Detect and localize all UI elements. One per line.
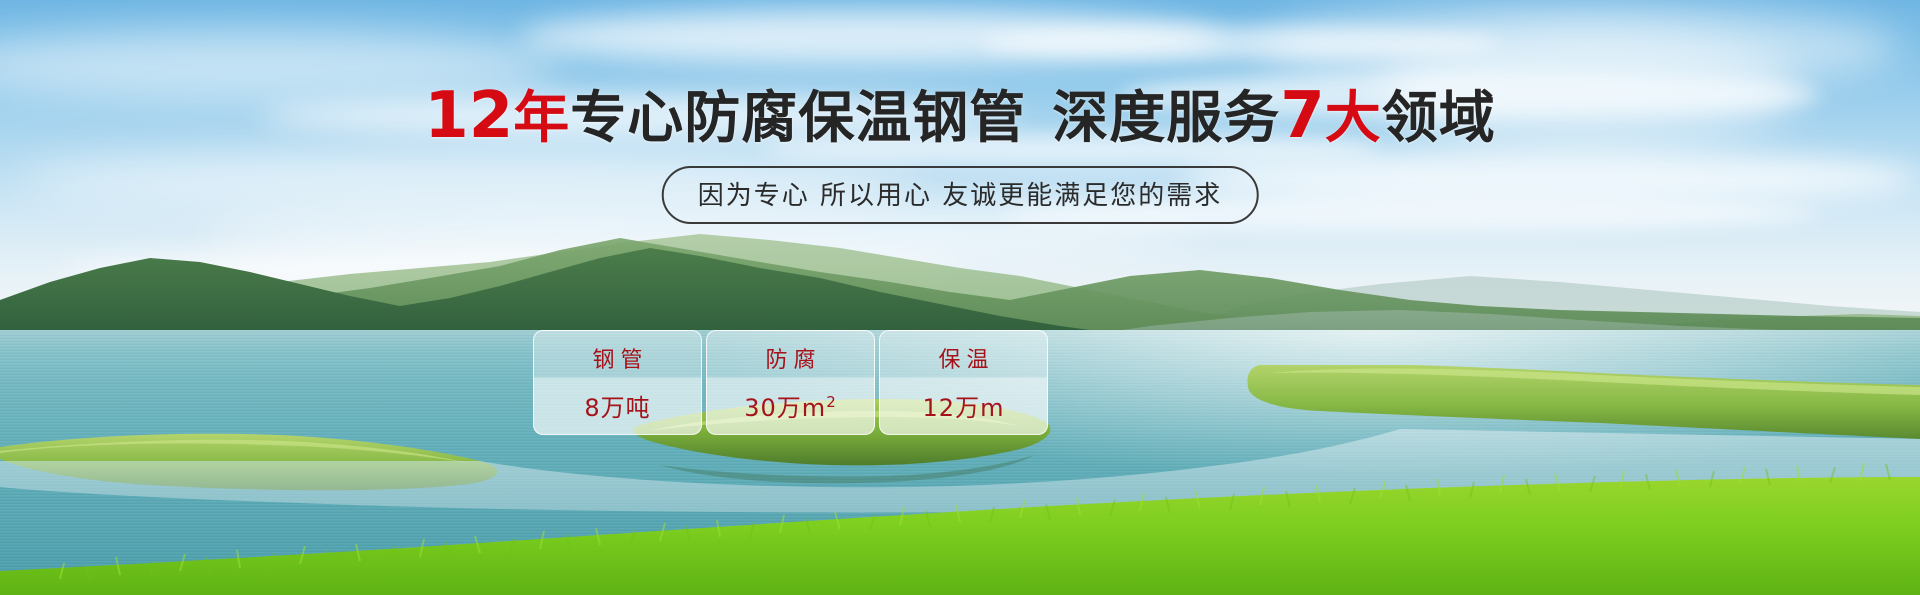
headline-fields-unit: 大	[1325, 86, 1382, 151]
stat-card-value-base: 30万m	[744, 394, 826, 422]
headline-service-text: 深度服务	[1052, 86, 1280, 151]
banner-headline: 12年专心防腐保温钢管深度服务7大领域	[0, 84, 1920, 148]
banner-subtitle-pill: 因为专心 所以用心 友诚更能满足您的需求	[662, 166, 1259, 224]
stat-card-title: 保温	[932, 342, 994, 374]
stat-card-title: 防腐	[759, 342, 821, 374]
headline-years-number: 12	[424, 79, 513, 153]
stat-card-insulation[interactable]: 保温 12万m	[879, 330, 1048, 435]
headline-years-unit: 年	[513, 86, 570, 151]
stat-card-value-base: 8万吨	[584, 394, 650, 422]
hero-banner: 12年专心防腐保温钢管深度服务7大领域 因为专心 所以用心 友诚更能满足您的需求…	[0, 0, 1920, 595]
stat-card-value: 12万m	[923, 388, 1005, 423]
stat-card-value-base: 12万m	[923, 394, 1005, 422]
headline-main-text: 专心防腐保温钢管	[570, 86, 1026, 151]
stat-card-title: 钢管	[586, 342, 648, 374]
stat-card-value: 30万m2	[744, 388, 836, 423]
headline-fields-text: 领域	[1382, 86, 1496, 151]
stat-card-anticorrosion[interactable]: 防腐 30万m2	[706, 330, 875, 435]
stat-card-steel-pipe[interactable]: 钢管 8万吨	[533, 330, 702, 435]
stat-card-value: 8万吨	[584, 388, 650, 423]
headline-fields-number: 7	[1280, 79, 1325, 153]
stat-card-value-superscript: 2	[826, 393, 837, 411]
banner-content: 12年专心防腐保温钢管深度服务7大领域 因为专心 所以用心 友诚更能满足您的需求…	[0, 0, 1920, 595]
stat-card-list: 钢管 8万吨 防腐 30万m2 保温 12万m	[533, 330, 1048, 435]
